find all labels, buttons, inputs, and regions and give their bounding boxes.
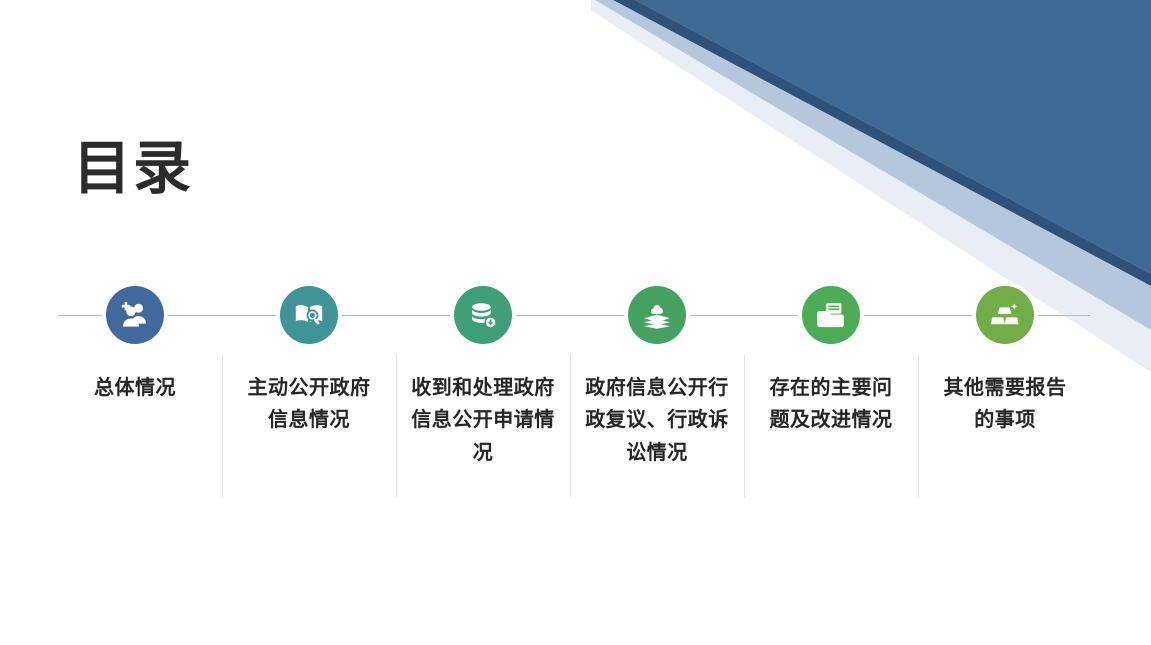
toc-item-2[interactable]: 主动公开政府信息情况 <box>222 286 396 437</box>
toc-item-label-2: 主动公开政府信息情况 <box>238 372 380 437</box>
database-download-icon <box>466 298 500 332</box>
book-search-icon <box>292 298 326 332</box>
toc-icon-badge-1[interactable] <box>106 286 164 344</box>
layers-cloud-icon <box>640 298 674 332</box>
toc-item-label-5: 存在的主要问题及改进情况 <box>760 372 902 437</box>
toc-icon-badge-3[interactable] <box>454 286 512 344</box>
toc-item-6[interactable]: 其他需要报告的事项 <box>918 286 1092 437</box>
toc-item-label-3: 收到和处理政府信息公开申请情况 <box>408 372 558 469</box>
slide-canvas: 目录 总体情况 <box>0 0 1151 645</box>
toc-item-5[interactable]: 存在的主要问题及改进情况 <box>744 286 918 437</box>
toc-item-label-6: 其他需要报告的事项 <box>934 372 1076 437</box>
toc-item-label-1: 总体情况 <box>64 372 206 404</box>
toc-item-list: 总体情况 主动公开政府信息情况 <box>48 286 1100 469</box>
page-title: 目录 <box>73 139 193 200</box>
toc-icon-badge-6[interactable] <box>976 286 1034 344</box>
toc-item-3[interactable]: 收到和处理政府信息公开申请情况 <box>396 286 570 469</box>
toc-item-1[interactable]: 总体情况 <box>48 286 222 404</box>
add-user-icon <box>118 298 152 332</box>
toc-icon-badge-5[interactable] <box>802 286 860 344</box>
toc-item-4[interactable]: 政府信息公开行政复议、行政诉讼情况 <box>570 286 744 469</box>
toc-icon-badge-4[interactable] <box>628 286 686 344</box>
printer-icon <box>814 298 848 332</box>
toc-icon-badge-2[interactable] <box>280 286 338 344</box>
blocks-sparkle-icon <box>988 298 1022 332</box>
toc-item-label-4: 政府信息公开行政复议、行政诉讼情况 <box>582 372 732 469</box>
